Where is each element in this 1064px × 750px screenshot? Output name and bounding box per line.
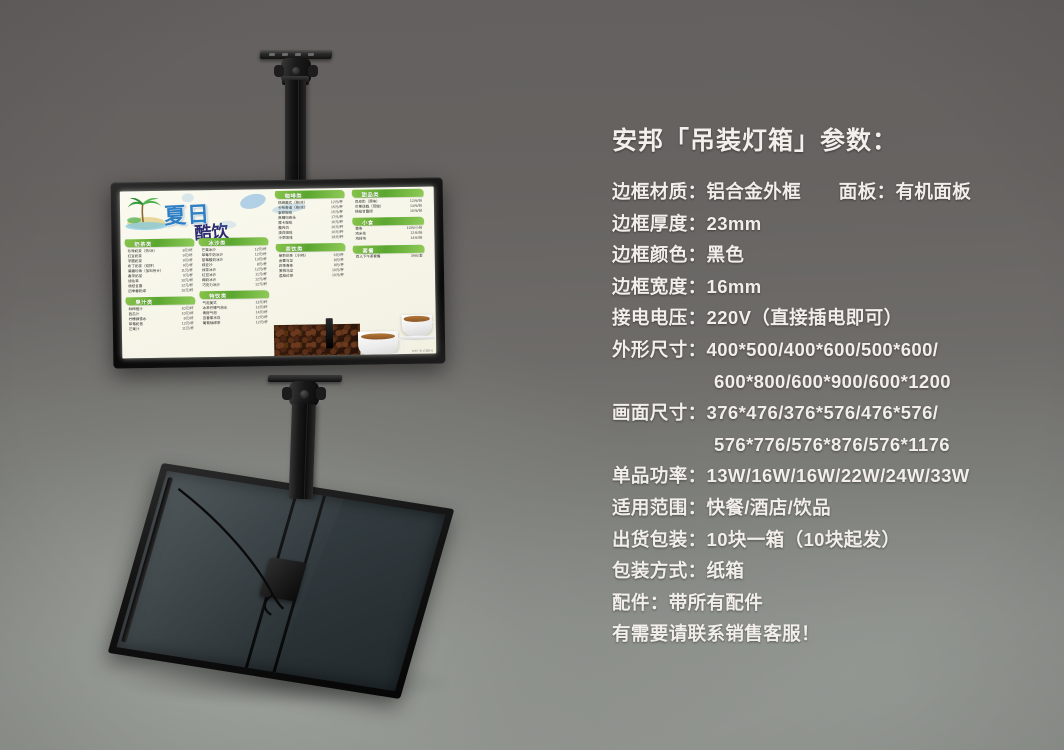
menu-section-header-label: 甜品类 — [362, 190, 380, 198]
brand-strip — [326, 318, 333, 348]
menu-item-price: 16元/份 — [406, 208, 422, 213]
menu-section: 套餐双人下午茶套餐39元/套 — [353, 244, 425, 260]
product-photo-stage: 夏日 酷饮 奶茶类珍珠奶茶（热/冰）8元/杯红豆奶茶9元/杯芋圆奶茶9元/杯布丁… — [0, 0, 1064, 750]
ceiling-mount-assembly-top — [246, 46, 346, 196]
lightbox-menu-panel: 夏日 酷饮 奶茶类珍珠奶茶（热/冰）8元/杯红豆奶茶9元/杯芋圆奶茶9元/杯布丁… — [120, 187, 437, 359]
menu-item-name: 荔枝红茶 — [279, 274, 293, 279]
menu-section-header-label: 果汁类 — [135, 298, 153, 306]
menu-column-3: 咖啡类现磨美式（热/冰）12元/杯卡布奇诺（热/冰）15元/杯拿铁咖啡15元/杯… — [275, 190, 346, 282]
menu-item-price: 11元/杯 — [178, 327, 194, 332]
drop-pole-bottom — [289, 404, 316, 500]
menu-item-name: 葡萄柚绿茶 — [203, 321, 221, 326]
menu-section: 特饮类气泡美式13元/杯冰萃柠檬气泡水13元/杯青提气泡14元/杯百香果冰饮12… — [199, 290, 270, 326]
drink-menu: 夏日 酷饮 奶茶类珍珠奶茶（热/冰）8元/杯红豆奶茶9元/杯芋圆奶茶9元/杯布丁… — [120, 187, 437, 359]
spec-line: 单品功率：13W/16W/16W/22W/24W/33W — [612, 460, 1044, 492]
spec-line: 外形尺寸：400*500/400*600/500*600/ — [612, 334, 1044, 366]
menu-item-row: 芒果汁11元/杯 — [126, 327, 196, 333]
ceiling-mount-assembly-bottom — [262, 373, 352, 493]
specification-panel: 安邦「吊装灯箱」参数： 边框材质：铝合金外框 面板：有机面板 边框厚度：23mm… — [612, 126, 1044, 650]
power-cable-icon — [116, 471, 445, 691]
menu-section-header: 冰沙类 — [198, 237, 269, 246]
menu-item-name: 冷萃咖啡 — [278, 236, 292, 241]
spec-line: 600*800/600*900/600*1200 — [612, 366, 1044, 398]
menu-section-header: 果汁类 — [125, 297, 196, 306]
lightbox-front: 夏日 酷饮 奶茶类珍珠奶茶（热/冰）8元/杯红豆奶茶9元/杯芋圆奶茶9元/杯布丁… — [111, 177, 446, 368]
menu-item-row: 鸡排块14元/份 — [352, 236, 424, 242]
coffee-saucer-front — [352, 356, 406, 358]
spec-line: 边框宽度：16mm — [612, 271, 1044, 303]
spec-line: 576*776/576*876/576*1176 — [612, 429, 1044, 461]
menu-item-price: 14元/份 — [406, 236, 422, 241]
menu-item-name: 芒果汁 — [129, 327, 140, 332]
menu-item-row: 冷萃咖啡18元/杯 — [275, 235, 345, 241]
menu-column-2: 冰沙类芒果冰沙12元/杯草莓牛奶冰沙12元/杯蓝莓酸奶冰沙13元/杯绿豆沙8元/… — [198, 237, 269, 329]
menu-section-header-label: 咖啡类 — [285, 191, 303, 199]
menu-item-price: 10元/杯 — [328, 273, 344, 278]
menu-section: 果汁类鲜榨橙汁10元/杯西瓜汁10元/杯柠檬蜂蜜水8元/杯草莓奶昔12元/杯芒果… — [125, 297, 196, 333]
menu-section-header: 小食 — [352, 216, 425, 225]
coffee-cup-back — [402, 315, 432, 337]
menu-item-name: 杨枝甘露捞 — [355, 209, 373, 214]
coffee-beans-image — [274, 324, 361, 359]
menu-item-row: 荔枝红茶10元/杯 — [276, 273, 346, 279]
menu-watermark: 安邦广告 灯箱制作 — [412, 349, 434, 353]
menu-section-header: 咖啡类 — [274, 190, 345, 199]
menu-section-header-label: 小食 — [362, 218, 374, 226]
menu-section: 茶饮类茉莉花茶（冷/热）6元/杯金萱乌龙8元/杯四季青茶8元/杯蜜桃乌龙10元/… — [276, 243, 347, 279]
menu-item-name: 双人下午茶套餐 — [356, 254, 381, 259]
menu-section: 咖啡类现磨美式（热/冰）12元/杯卡布奇诺（热/冰）15元/杯拿铁咖啡15元/杯… — [275, 190, 346, 241]
menu-item-name: 四季春奶绿 — [128, 289, 146, 294]
menu-section-header: 奶茶类 — [124, 238, 195, 247]
menu-section: 甜品类双皮奶（原味）12元/份芒果班戟（现做）14元/份杨枝甘露捞16元/份 — [352, 189, 424, 215]
menu-column-4: 甜品类双皮奶（原味）12元/份芒果班戟（现做）14元/份杨枝甘露捞16元/份小食… — [352, 189, 425, 263]
menu-item-row: 四季春奶绿10元/杯 — [125, 289, 195, 295]
spec-line: 包装方式：纸箱 — [612, 555, 1044, 587]
spec-line-list: 边框材质：铝合金外框 面板：有机面板 边框厚度：23mm 边框颜色：黑色 边框宽… — [612, 176, 1044, 650]
menu-section-header: 套餐 — [352, 244, 425, 253]
menu-item-row: 巧克力冰沙12元/杯 — [199, 282, 269, 288]
menu-section-header-label: 套餐 — [363, 246, 375, 254]
menu-item-price: 18元/杯 — [327, 235, 343, 240]
menu-section-header: 甜品类 — [351, 189, 424, 198]
spec-line: 边框颜色：黑色 — [612, 239, 1044, 271]
menu-item-price: 12元/杯 — [252, 320, 268, 325]
spec-line: 边框材质：铝合金外框 面板：有机面板 — [612, 176, 1044, 208]
coffee-cup-front — [358, 331, 398, 358]
spec-line: 接电电压：220V（直接插电即可） — [612, 302, 1044, 334]
spec-line: 出货包装：10块一箱（10块起发） — [612, 524, 1044, 556]
menu-item-row: 双人下午茶套餐39元/套 — [353, 254, 425, 260]
page-title: 安邦「吊装灯箱」参数： — [612, 126, 1044, 156]
menu-column-1: 奶茶类珍珠奶茶（热/冰）8元/杯红豆奶茶9元/杯芋圆奶茶9元/杯布丁奶茶（双拼）… — [124, 238, 196, 335]
menu-section-header-label: 茶饮类 — [285, 244, 303, 252]
menu-item-price: 10元/杯 — [177, 289, 193, 294]
menu-item-name: 巧克力冰沙 — [202, 283, 220, 288]
spec-line: 适用范围：快餐/酒店/饮品 — [612, 492, 1044, 524]
coffee-saucer-back — [398, 335, 435, 340]
menu-section: 奶茶类珍珠奶茶（热/冰）8元/杯红豆奶茶9元/杯芋圆奶茶9元/杯布丁奶茶（双拼）… — [124, 238, 195, 294]
menu-item-price: 12元/杯 — [251, 282, 267, 287]
spec-line: 有需要请联系销售客服！ — [612, 618, 1044, 650]
menu-section-header-label: 奶茶类 — [134, 240, 152, 248]
menu-section-header: 特饮类 — [199, 290, 270, 299]
spec-line: 边框厚度：23mm — [612, 208, 1044, 240]
menu-section-header-label: 特饮类 — [209, 292, 227, 300]
spec-line: 配件：带所有配件 — [612, 587, 1044, 619]
menu-section-header: 茶饮类 — [275, 243, 346, 252]
menu-item-price: 39元/套 — [407, 254, 423, 259]
spec-line: 画面尺寸：376*476/376*576/476*576/ — [612, 397, 1044, 429]
menu-item-row: 杨枝甘露捞16元/份 — [352, 208, 424, 214]
menu-item-name: 鸡排块 — [355, 237, 366, 242]
lightbox-rear-face — [116, 471, 445, 691]
menu-section-header-label: 冰沙类 — [208, 238, 226, 246]
menu-section: 冰沙类芒果冰沙12元/杯草莓牛奶冰沙12元/杯蓝莓酸奶冰沙13元/杯绿豆沙8元/… — [198, 237, 269, 288]
menu-item-row: 葡萄柚绿茶12元/杯 — [200, 320, 270, 326]
menu-section: 小食薯条10元/小份鸡米花12元/份鸡排块14元/份 — [352, 216, 424, 242]
